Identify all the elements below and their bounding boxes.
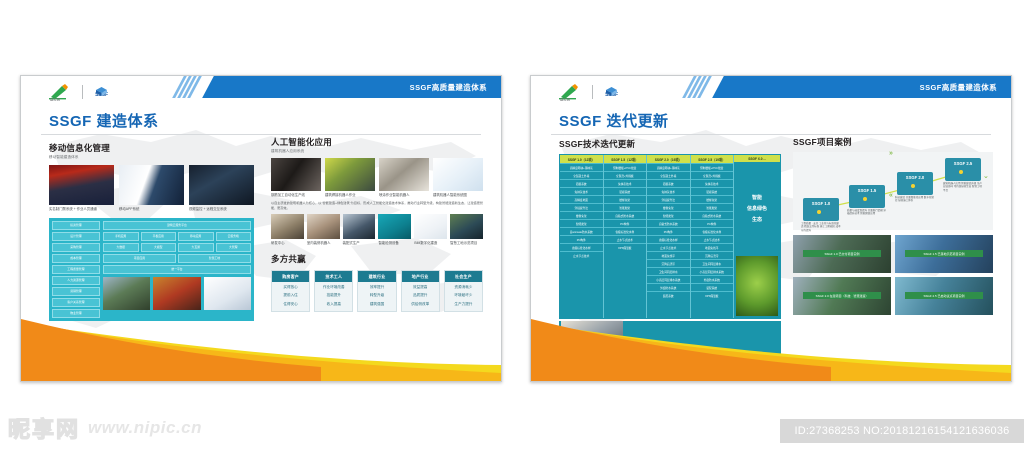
ai-section-subheading: 建筑机器人应用系统 [271, 149, 483, 154]
flow-arrow-down-icon: ⌄ [983, 172, 989, 180]
table-cell: 外窗防水系统 [691, 275, 734, 283]
right-header-ribbon: SSGF高质量建造体系 [704, 76, 1011, 98]
table-header: SSGF 2.0（19项） [647, 155, 690, 163]
mobile-info-section: 移动信息化管理 移动智能建造体系 实名制门禁系统 + 作业人员通道 移动APP系… [49, 142, 254, 321]
tech-section-heading: SSGF技术迭代更新 [559, 138, 781, 150]
mobile-thumb-row: 实名制门禁系统 + 作业人员通道 移动APP系统 视频监控 + 远程交互系统 [49, 165, 254, 211]
multi-win-table: 购房客户 买得放心 提前入住 住得安心 技术工人 作业环境改善 技能提升 收入提… [271, 270, 483, 312]
flow-arrow-left-icon: « [889, 192, 893, 199]
chip-item[interactable]: 采购管理 [52, 243, 100, 252]
win-item: 环境破坏少 [445, 293, 482, 298]
vision-label: 信息绿色 [747, 205, 767, 212]
site-watermark: 昵享网 www.nipic.cn [8, 412, 202, 444]
assembly-photo [343, 214, 376, 239]
win-item: 品质提升 [402, 293, 439, 298]
milestone-note: 工程质量 · 安全 工业化与标准化建造 精装交付标准 施工工期缩短 成本节约提升 [801, 222, 841, 232]
milestone-box[interactable]: SSGF 1.0 [803, 198, 839, 221]
thumb-caption: 智能检测设备 [378, 241, 411, 245]
mobile-section-heading: 移动信息化管理 [49, 142, 254, 154]
table-cell: XPS保温板 [604, 243, 647, 251]
table-header: SSGF 1.0（12项） [560, 155, 603, 163]
worker-scan-photo [153, 277, 200, 310]
thumb-cell[interactable]: 室内装修机器人 [307, 214, 340, 245]
table-cell: PC构件 [604, 219, 647, 227]
ai-application-section: 人工智能化应用 建筑机器人应用系统 钢筋加工自动化生产线 建筑焊接机器人作业 喷… [271, 136, 483, 312]
milestone-dot-icon [817, 210, 821, 214]
ribbon-title: SSGF高质量建造体系 [920, 82, 997, 93]
table-cell: 楼梯免架 [647, 203, 690, 211]
diagram-photo [433, 158, 483, 191]
win-item: 技能提升 [315, 293, 352, 298]
welding-photo [325, 158, 375, 191]
left-poster-board: SSGF高质量建造体系 碧桂园 [20, 75, 502, 382]
cube-shape-icon [96, 83, 107, 92]
thumb-caption: 视频监控 + 远程交互系统 [189, 207, 254, 211]
svg-text:碧桂园: 碧桂园 [560, 97, 571, 101]
table-cell: 省级标准化水样 [560, 243, 603, 251]
ai-section-heading: 人工智能化应用 [271, 136, 483, 148]
table-cell: 省级标准化水样 [604, 227, 647, 235]
table-cell: 装配系统 [647, 291, 690, 299]
construction-cloud-diagram: 投资管理 设计管理 采购管理 成本管理 工程质量管理 人力资源管理 营销管理 客… [49, 218, 254, 321]
table-cell: 穿插提升法 [647, 195, 690, 203]
thumb-caption: 钢筋加工自动化生产线 [271, 193, 321, 197]
future-vision-labels: 智能 信息绿色 生态 [734, 162, 780, 254]
left-title-divider [41, 134, 481, 135]
thumb-cell[interactable]: 喷涂作业智能机器人 [379, 158, 429, 197]
table-cell: 全混凝土外墙 [647, 171, 690, 179]
table-cell: 智能爬架 [560, 219, 603, 227]
table-cell: 止水节点技术 [560, 251, 603, 259]
milestone-note: 质量与速度双提升 全面推行铝模 穿插提升技术 智能爬架应用 [847, 209, 887, 216]
table-cell: 智能爬架 [647, 211, 690, 219]
win-item: 买得放心 [272, 285, 309, 290]
win-column-header: 技术工人 [315, 271, 352, 282]
diagram-bottom-bar: 统一平台 [103, 265, 251, 274]
watermark-url-text: www.nipic.cn [88, 418, 202, 438]
monitor-room-photo [189, 165, 254, 205]
case-photo-cell[interactable]: SSGF 2.5 已启动试点项目实例 [895, 277, 993, 315]
win-item: 收入提高 [315, 302, 352, 307]
thumb-cell[interactable]: 建筑机器人智能系统图 [433, 158, 483, 197]
win-item: 建筑强国 [358, 302, 395, 307]
table-cell: 地面免找平 [647, 251, 690, 259]
sub-cell[interactable]: 项目应用 [103, 254, 176, 263]
table-cell: 沉降后浇带 [647, 259, 690, 267]
thumb-caption: BIM数字化建造 [414, 241, 447, 245]
thumb-cell[interactable]: 建筑焊接机器人作业 [325, 158, 375, 197]
logo-divider [592, 85, 593, 99]
vision-label: 生态 [752, 216, 762, 223]
milestone-note: 科技建造 全面智能化应用 数字化管控 绿色施工体系 [895, 196, 935, 203]
table-cell: 铝模系统 [691, 187, 734, 195]
case-photo-cell[interactable]: SSGF 1.5 已落地示范项目实例 [895, 235, 993, 273]
diagram-top-bar: 建筑云服务平台 [103, 221, 251, 230]
vision-label: 智能 [752, 194, 762, 201]
watermark-chinese-text: 昵享网 [8, 412, 80, 444]
table-cell: 楼梯免架 [560, 211, 603, 219]
thumb-caption: 实名制门禁系统 + 作业人员通道 [49, 207, 114, 211]
table-cell: 免抹灰技术 [647, 187, 690, 195]
case-caption: SSGF 1.0 已交付项目实例 [803, 250, 881, 257]
win-column: 建筑行业 效率提升 转型升级 建筑强国 [357, 270, 396, 312]
table-cell: 止水节点技术 [647, 243, 690, 251]
table-cell: 铝模系统 [560, 179, 603, 187]
table-cell: 沉降后浇带 [691, 251, 734, 259]
table-column: SSGF 2.0（19项） 高精度砌块+薄抹灰 全混凝土外墙 铝模系统 免抹灰技… [647, 155, 691, 318]
table-cell: 全现浇+外挑板 [604, 171, 647, 179]
thumb-caption: 室内装修机器人 [307, 241, 340, 245]
chip-item[interactable]: 物业管理 [52, 309, 100, 318]
ssgf-roadmap: SSGF 1.0 工程质量 · 安全 工业化与标准化建造 精装交付标准 施工工期… [793, 152, 993, 230]
case-photo-cell[interactable]: SSGF 1.0 已交付项目实例 [793, 235, 891, 273]
milestone-note: 建筑机器人应用 智能建造升级 全产业链协同 可持续绿色生态 智慧工地平台 [943, 182, 983, 192]
table-cell: 免抹灰技术 [691, 179, 734, 187]
table-cell: XPS保温板 [691, 291, 734, 299]
ai-description-paragraph: 以自主研发的建筑机器人为核心，以“智能建造+绿色建筑”为目标，形成人工智能化建造… [271, 201, 483, 210]
win-item: 效益提高 [402, 285, 439, 290]
table-cell: 预制楼板+PVC线盒 [604, 163, 647, 171]
win-column-header: 社会生产 [445, 271, 482, 282]
brand-logos: 碧桂园 SSGF [557, 83, 623, 101]
chip-item[interactable]: 客户关系管理 [52, 298, 100, 307]
table-cell: 自粘式防水系统 [691, 211, 734, 219]
brand-logos: 碧桂园 SSGF [47, 83, 113, 101]
table-header: SSGF 2.5（19项） [691, 155, 734, 163]
diagram-right-grid: 建筑云服务平台 手机应用 平板应用 移动应用 云服务端 大数据 大模型 大互通 … [103, 221, 251, 318]
win-section-heading: 多方共赢 [271, 253, 483, 265]
thumb-cell[interactable]: 装配式生产 [343, 214, 376, 245]
milestone-dot-icon [863, 197, 867, 201]
grid-cell[interactable]: 大模型 [141, 243, 177, 252]
diagram-grid-row: 大数据 大模型 大互通 大管理 [103, 243, 251, 252]
thumb-caption: 建筑焊接机器人作业 [325, 193, 375, 197]
floorplan-photo [414, 214, 447, 239]
win-item: 作业环境改善 [315, 285, 352, 290]
table-cell: 铝模系统 [604, 187, 647, 195]
table-cell: 外窗防水系统 [647, 283, 690, 291]
project-photo-grid: SSGF 1.0 已交付项目实例 SSGF 1.5 已落地示范项目实例 SSGF… [793, 235, 993, 315]
brush-logo-icon: 碧桂园 [557, 84, 585, 101]
table-cell: 高精度地面 [560, 195, 603, 203]
poster-canvas: SSGF高质量建造体系 碧桂园 [0, 0, 1024, 450]
image-id-text: ID:27368253 NO:20181216154121636036 [795, 425, 1010, 437]
svg-text:碧桂园: 碧桂园 [50, 97, 61, 101]
win-column: 地产行业 效益提高 品质提升 供给侧改革 [401, 270, 440, 312]
table-column: SSGF 2.5（19项） 预制楼板+PVC线盒 全现浇+外挑板 免抹灰技术 铝… [691, 155, 735, 318]
win-column: 购房客户 买得放心 提前入住 住得安心 [271, 270, 310, 312]
diagram-photo-row [103, 277, 251, 310]
right-title-divider [551, 134, 991, 135]
chip-item[interactable]: 投资管理 [52, 221, 100, 230]
case-caption: SSGF 2.5 已启动试点项目实例 [905, 292, 983, 299]
chip-item[interactable]: 营销管理 [52, 287, 100, 296]
rebar-photo [271, 158, 321, 191]
grid-cell[interactable]: 大管理 [216, 243, 252, 252]
win-item: 资源消耗少 [445, 285, 482, 290]
table-cell: 楼梯免架 [604, 195, 647, 203]
right-panel-title: SSGF 迭代更新 [559, 110, 669, 131]
table-cell: 小高层同层排水系统 [647, 275, 690, 283]
tech-iteration-table: SSGF 1.0（12项） 高精度砌块+薄抹灰 全混凝土外墙 铝模系统 免抹灰技… [559, 154, 781, 319]
green-leaf-photo [736, 256, 778, 316]
thumb-caption: 建筑机器人智能系统图 [433, 193, 483, 197]
table-cell: 智能爬架 [604, 203, 647, 211]
ai-thumb-row-secondary: 研发中心 室内装修机器人 装配式生产 智能检测设备 BIM数字化建造 [271, 214, 483, 245]
flow-arrow-right-icon: » [889, 150, 893, 157]
ssgf-logo-icon: SSGF [600, 83, 623, 101]
milestone-box[interactable]: SSGF 1.5 [849, 185, 885, 208]
left-panel-title: SSGF 建造体系 [49, 110, 159, 131]
table-column: SSGF 1.5（12项） 预制楼板+PVC线盒 全现浇+外挑板 免抹灰技术 铝… [604, 155, 648, 318]
table-cell: 自粘式防水系统 [604, 211, 647, 219]
table-cell: 装配系统 [691, 283, 734, 291]
project-cases-section: SSGF项目案例 SSGF 1.0 工程质量 · 安全 工业化与标准化建造 精装… [793, 136, 993, 315]
table-cell: 止水节点技术 [691, 235, 734, 243]
thumb-caption: 移动APP系统 [119, 207, 184, 211]
thumb-caption: 智慧工地示范项目 [450, 241, 483, 245]
case-caption: SSGF 1.5 已落地示范项目实例 [905, 250, 983, 257]
table-cell: 穿插提升法 [560, 203, 603, 211]
gate-system-photo [49, 165, 114, 205]
win-item: 效率提升 [358, 285, 395, 290]
grid-cell[interactable]: 移动应用 [178, 232, 214, 241]
win-item: 供给侧改革 [402, 302, 439, 307]
left-header-ribbon: SSGF高质量建造体系 [194, 76, 501, 98]
testing-photo [378, 214, 411, 239]
brush-logo-icon: 碧桂园 [47, 84, 75, 101]
win-item: 转型升级 [358, 293, 395, 298]
win-column: 社会生产 资源消耗少 环境破坏少 生产力提升 [444, 270, 483, 312]
table-cell: 楼梯免架 [691, 195, 734, 203]
thumb-caption: 装配式生产 [343, 241, 376, 245]
thumb-cell[interactable]: 实名制门禁系统 + 作业人员通道 [49, 165, 114, 211]
chip-item[interactable]: 设计管理 [52, 232, 100, 241]
diagram-grid-row: 手机应用 平板应用 移动应用 云服务端 [103, 232, 251, 241]
table-cell: 免抹灰技术 [560, 187, 603, 195]
ssgf-logo-icon: SSGF [90, 83, 113, 101]
table-cell: 省级标准化水样 [647, 235, 690, 243]
ai-thumb-row: 钢筋加工自动化生产线 建筑焊接机器人作业 喷涂作业智能机器人 建筑机器人智能系统… [271, 158, 483, 197]
table-cell: 免抹灰技术 [604, 179, 647, 187]
case-photo-cell[interactable]: SSGF 2.0 在建项目（科技 · 智慧建造） [793, 277, 891, 315]
diagram-sub-row: 项目应用 智慧工地 [103, 254, 251, 263]
table-column: SSGF 1.0（12项） 高精度砌块+薄抹灰 全混凝土外墙 铝模系统 免抹灰技… [560, 155, 604, 318]
thumb-cell[interactable]: 钢筋加工自动化生产线 [271, 158, 321, 197]
right-bottom-swoosh [531, 319, 1011, 381]
chip-item[interactable]: 人力资源管理 [52, 276, 100, 285]
thumb-caption: 喷涂作业智能机器人 [379, 193, 429, 197]
table-cell: 自粘式防水系统 [647, 219, 690, 227]
grid-cell[interactable]: 大数据 [103, 243, 139, 252]
thumb-cell[interactable]: 移动APP系统 [119, 165, 184, 211]
table-cell: 高精度砌块+薄抹灰 [560, 163, 603, 171]
site-inspection-photo [103, 277, 150, 310]
left-bottom-swoosh [21, 319, 501, 381]
cases-section-heading: SSGF项目案例 [793, 136, 993, 148]
mobile-app-photo [119, 165, 184, 205]
table-cell: 自animate防水系统 [560, 227, 603, 235]
milestone-dot-icon [959, 170, 963, 174]
spray-photo [379, 158, 429, 191]
table-cell: PC构件 [560, 235, 603, 243]
sub-cell[interactable]: 智慧工地 [178, 254, 251, 263]
win-column-header: 购房客户 [272, 271, 309, 282]
thumb-caption: 研发中心 [271, 241, 304, 245]
table-column-future: SSGF X.0… 智能 信息绿色 生态 [734, 155, 780, 318]
table-cell: 卫生间同层排水 [647, 267, 690, 275]
win-column-header: 地产行业 [402, 271, 439, 282]
cube-shape-icon [606, 83, 617, 92]
thumb-cell[interactable]: BIM数字化建造 [414, 214, 447, 245]
case-caption: SSGF 2.0 在建项目（科技 · 智慧建造） [803, 292, 881, 299]
table-cell: PC构件 [647, 227, 690, 235]
thumb-cell[interactable]: 智能检测设备 [378, 214, 411, 245]
table-cell: 全混凝土外墙 [560, 171, 603, 179]
lab-photo [271, 214, 304, 239]
thumb-cell[interactable]: 视频监控 + 远程交互系统 [189, 165, 254, 211]
grid-cell[interactable]: 大互通 [178, 243, 214, 252]
interior-photo [307, 214, 340, 239]
aerial-photo [450, 214, 483, 239]
win-item: 住得安心 [272, 302, 309, 307]
table-cell: 卫生间同层排水 [691, 259, 734, 267]
thumb-cell[interactable]: 智慧工地示范项目 [450, 214, 483, 245]
grid-cell[interactable]: 云服务端 [216, 232, 252, 241]
win-column-header: 建筑行业 [358, 271, 395, 282]
grid-cell[interactable]: 手机应用 [103, 232, 139, 241]
table-cell: 高精度砌块+薄抹灰 [647, 163, 690, 171]
chip-item[interactable]: 工程质量管理 [52, 265, 100, 274]
mobile-section-subheading: 移动智能建造体系 [49, 155, 254, 160]
table-cell: 智能爬架 [691, 203, 734, 211]
win-item: 提前入住 [272, 293, 309, 298]
milestone-box[interactable]: SSGF 2.5 [945, 158, 981, 181]
milestone-box[interactable]: SSGF 2.0 [897, 172, 933, 195]
ribbon-title: SSGF高质量建造体系 [410, 82, 487, 93]
thumb-cell[interactable]: 研发中心 [271, 214, 304, 245]
diagram-left-chips: 投资管理 设计管理 采购管理 成本管理 工程质量管理 人力资源管理 营销管理 客… [52, 221, 100, 318]
table-header: SSGF X.0… [734, 155, 780, 162]
milestone-dot-icon [911, 184, 915, 188]
chip-item[interactable]: 成本管理 [52, 254, 100, 263]
right-poster-board: SSGF高质量建造体系 碧桂园 [530, 75, 1012, 382]
table-cell: 止水节点技术 [604, 235, 647, 243]
table-cell: 全现浇+外挑板 [691, 171, 734, 179]
image-id-bar: ID:27368253 NO:20181216154121636036 [780, 419, 1024, 443]
grid-cell[interactable]: 平板应用 [141, 232, 177, 241]
table-cell: PC构件 [691, 219, 734, 227]
table-header: SSGF 1.5（12项） [604, 155, 647, 163]
table-cell: 预制楼板+PVC线盒 [691, 163, 734, 171]
table-cell: 地面免找平 [691, 243, 734, 251]
logo-divider [82, 85, 83, 99]
mobile-report-photo [204, 277, 251, 310]
win-item: 生产力提升 [445, 302, 482, 307]
win-column: 技术工人 作业环境改善 技能提升 收入提高 [314, 270, 353, 312]
table-cell: 小高层同层排水系统 [691, 267, 734, 275]
table-cell: 省级标准化水样 [691, 227, 734, 235]
table-cell: 铝模系统 [647, 179, 690, 187]
